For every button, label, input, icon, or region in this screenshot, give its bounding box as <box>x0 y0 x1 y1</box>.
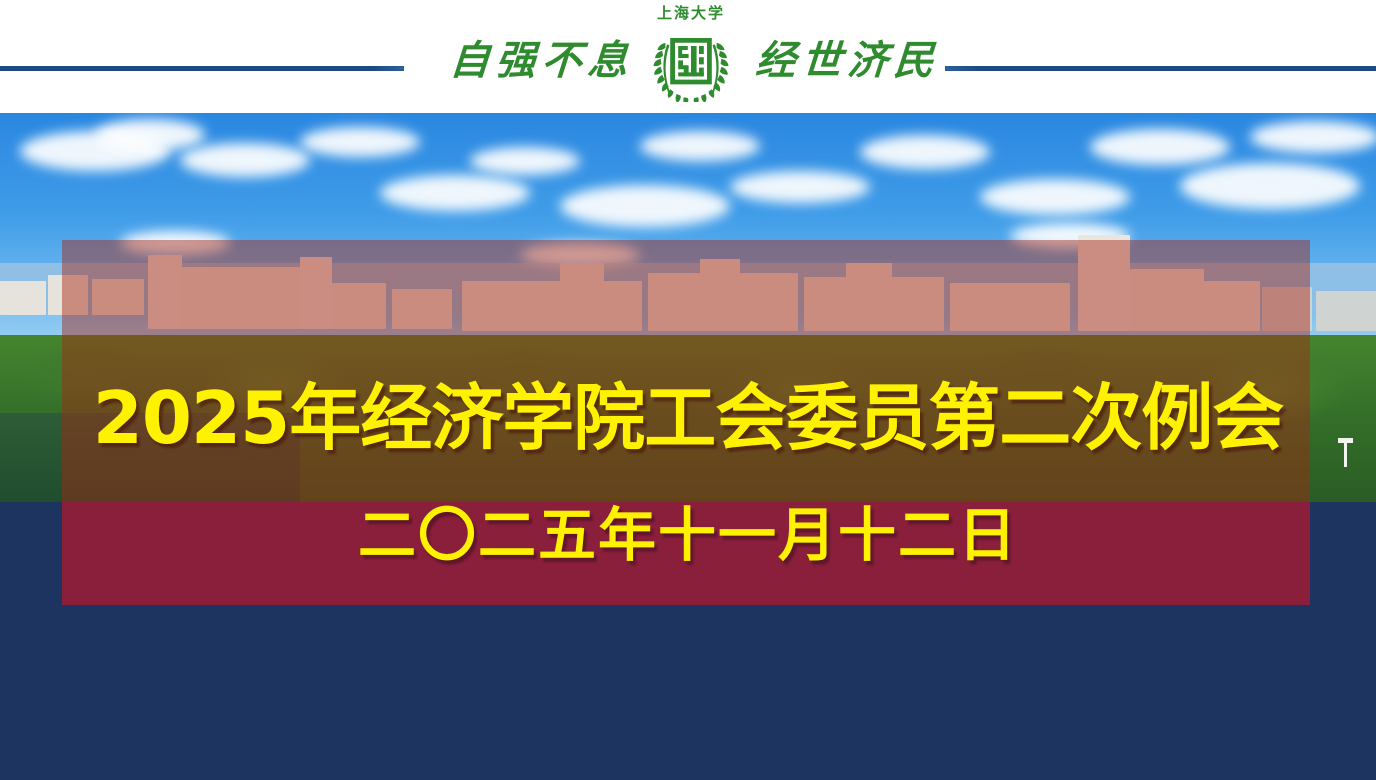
cloud-shape <box>380 175 530 211</box>
cloud-shape <box>980 179 1130 215</box>
motto-right: 经世济民 <box>754 28 942 86</box>
cloud-shape <box>1090 129 1230 165</box>
motto-left: 自强不息 <box>448 28 636 86</box>
header-rule-right <box>945 66 1376 71</box>
university-name: 上海大学 <box>637 2 745 23</box>
university-logo: 上海大学 <box>637 2 745 110</box>
cloud-shape <box>180 143 310 177</box>
event-date: 二〇二五年十一月十二日 <box>0 506 1376 564</box>
building-block <box>1316 291 1376 331</box>
page-title: 2025年经济学院工会委员第二次例会 <box>0 382 1376 454</box>
cloud-shape <box>1180 163 1360 209</box>
header-rule-left <box>0 66 404 71</box>
cloud-shape <box>560 185 730 227</box>
cloud-shape <box>640 131 760 161</box>
title-overlay-panel <box>62 240 1310 502</box>
cloud-shape <box>300 127 420 157</box>
cloud-shape <box>95 119 205 151</box>
cloud-shape <box>730 171 870 203</box>
cloud-shape <box>470 147 580 175</box>
cloud-shape <box>1250 121 1376 153</box>
slide-header: 自强不息 经世济民 上海大学 <box>0 0 1376 113</box>
presentation-slide: 2025年经济学院工会委员第二次例会 二〇二五年十一月十二日 自强不息 经世济民… <box>0 0 1376 780</box>
cloud-shape <box>860 135 990 169</box>
shanghai-university-seal-icon <box>651 22 731 102</box>
building-block <box>0 281 46 315</box>
